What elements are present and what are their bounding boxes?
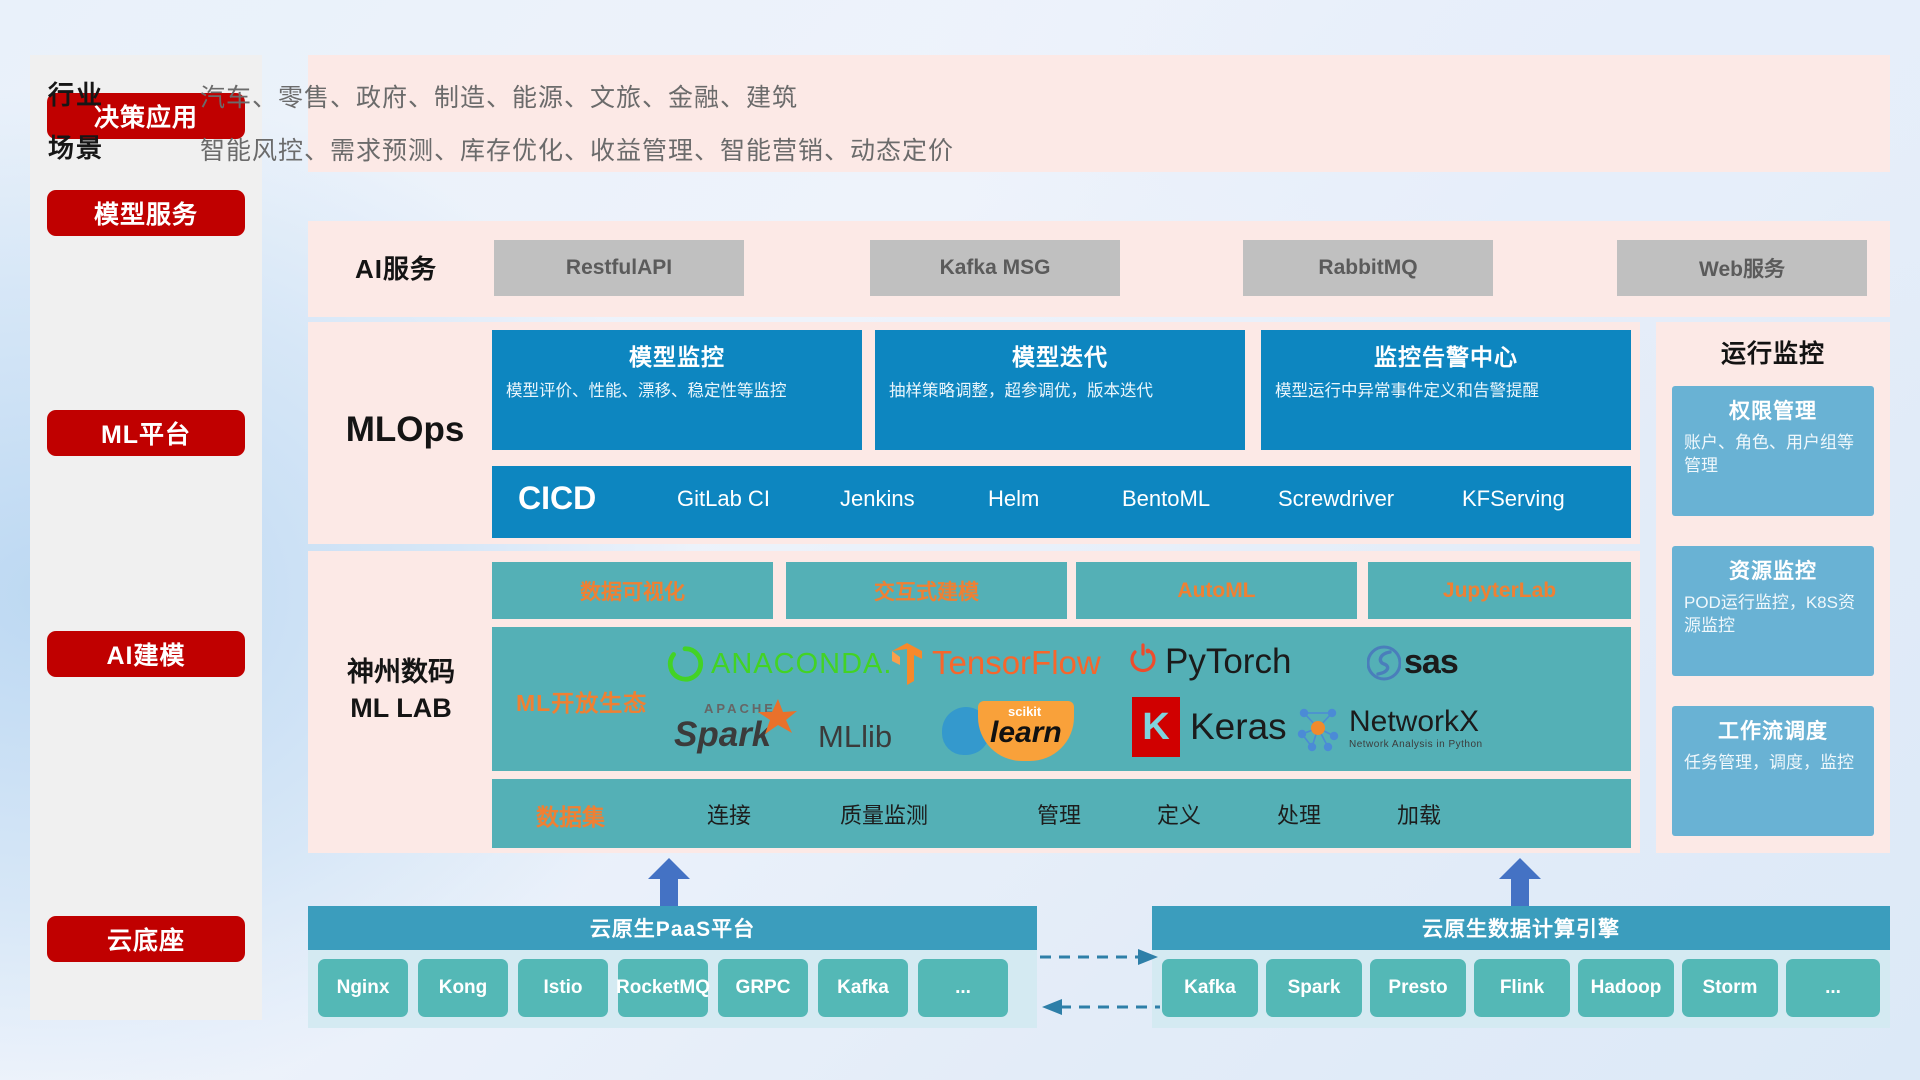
left-stack-rail: 决策应用 模型服务 ML平台 AI建模 云底座 [30,55,262,1020]
monitor-card-workflow-scheduling[interactable]: 工作流调度 任务管理，调度，监控 [1672,706,1874,836]
cicd-tool-jenkins[interactable]: Jenkins [840,486,960,512]
paas-chip-nginx[interactable]: Nginx [318,959,408,1017]
paas-chip-more[interactable]: ... [918,959,1008,1017]
ai-service-chip-web-service[interactable]: Web服务 [1617,240,1867,296]
tensorflow-logo: TensorFlow [887,641,1101,685]
data-engine-chip-flink[interactable]: Flink [1474,959,1570,1017]
spark-star-icon [754,697,800,741]
mlops-label: MLOps [330,400,480,460]
networkx-mark-icon [1292,701,1344,755]
card-body: 模型运行中异常事件定义和告警提醒 [1275,380,1617,403]
keras-wordmark: Keras [1190,706,1287,748]
rail-item-model-service[interactable]: 模型服务 [47,190,245,236]
dataset-op-connect[interactable]: 连接 [707,798,751,830]
ml-lab-label-line2: ML LAB [347,690,455,726]
ai-service-chip-kafka-msg[interactable]: Kafka MSG [870,240,1120,296]
mlops-card-model-iteration[interactable]: 模型迭代 抽样策略调整，超参调优，版本迭代 [875,330,1245,450]
paas-to-engine-arrow-icon [1040,945,1160,969]
card-body: 任务管理，调度，监控 [1684,751,1862,774]
cicd-tool-kfserving[interactable]: KFServing [1462,486,1582,512]
scenario-label: 场景 [48,128,104,165]
mllab-tab-jupyterlab[interactable]: JupyterLab [1368,562,1631,619]
rail-item-cloud-base[interactable]: 云底座 [47,916,245,962]
card-title: 模型监控 [506,338,848,372]
scikit-learn-logo: scikit learn [942,701,1112,761]
cicd-tool-gitlab-ci[interactable]: GitLab CI [677,486,797,512]
keras-logo: K Keras [1132,697,1287,757]
networkx-wordmark: NetworkX [1349,707,1483,737]
card-body: 抽样策略调整，超参调优，版本迭代 [889,380,1231,403]
sas-mark-icon [1367,644,1401,682]
dataset-op-process[interactable]: 处理 [1277,798,1321,830]
data-engine-group: 云原生数据计算引擎 Kafka Spark Presto Flink Hadoo… [1152,906,1890,1028]
rail-item-ai-modeling[interactable]: AI建模 [47,631,245,677]
data-engine-title: 云原生数据计算引擎 [1152,906,1890,950]
networkx-logo: NetworkX Network Analysis in Python [1292,701,1483,755]
networkx-tagline: Network Analysis in Python [1349,740,1483,750]
sas-logo: sas [1367,643,1458,682]
ml-lab-label-line1: 神州数码 [347,654,455,690]
card-body: 账户、角色、用户组等管理 [1684,431,1862,477]
card-title: 监控告警中心 [1275,338,1617,372]
data-engine-chip-storm[interactable]: Storm [1682,959,1778,1017]
paas-chip-rocketmq[interactable]: RocketMQ [618,959,708,1017]
learn-text: learn [990,716,1062,750]
monitor-card-resource-monitoring[interactable]: 资源监控 POD运行监控，K8S资源监控 [1672,546,1874,676]
pytorch-mark-icon [1127,642,1159,682]
dataset-op-define[interactable]: 定义 [1157,798,1201,830]
paas-title: 云原生PaaS平台 [308,906,1037,950]
data-engine-chip-hadoop[interactable]: Hadoop [1578,959,1674,1017]
dataset-op-quality-monitor[interactable]: 质量监测 [840,798,928,830]
card-title: 资源监控 [1684,555,1862,585]
cicd-label: CICD [518,480,596,517]
keras-mark-icon: K [1132,697,1180,757]
ml-open-ecosystem-band: ML开放生态 ANACONDA. TensorFlow PyTorch s [492,627,1631,771]
paas-chip-kafka[interactable]: Kafka [818,959,908,1017]
sas-wordmark: sas [1404,643,1458,682]
keras-k-letter: K [1142,706,1169,749]
data-engine-up-arrow-icon [1497,858,1543,906]
ml-lab-label: 神州数码 ML LAB [316,650,486,730]
data-engine-chip-kafka[interactable]: Kafka [1162,959,1258,1017]
dataset-op-load[interactable]: 加载 [1397,798,1441,830]
tensorflow-mark-icon [887,641,927,685]
engine-to-paas-arrow-icon [1040,995,1160,1019]
card-title: 权限管理 [1684,395,1862,425]
ai-service-label: AI服务 [336,250,456,290]
paas-chip-istio[interactable]: Istio [518,959,608,1017]
paas-chip-kong[interactable]: Kong [418,959,508,1017]
dataset-op-manage[interactable]: 管理 [1037,798,1081,830]
data-engine-chip-tray: Kafka Spark Presto Flink Hadoop Storm ..… [1152,950,1890,1028]
pytorch-wordmark: PyTorch [1165,642,1291,682]
cicd-tool-bentoml[interactable]: BentoML [1122,486,1242,512]
cicd-toolchain-bar: CICD GitLab CI Jenkins Helm BentoML Scre… [492,466,1631,538]
pytorch-logo: PyTorch [1127,642,1291,682]
data-engine-chip-spark[interactable]: Spark [1266,959,1362,1017]
card-body: POD运行监控，K8S资源监控 [1684,591,1862,637]
rail-item-ml-platform[interactable]: ML平台 [47,410,245,456]
ml-open-ecosystem-label: ML开放生态 [516,684,647,718]
mlops-card-model-monitoring[interactable]: 模型监控 模型评价、性能、漂移、稳定性等监控 [492,330,862,450]
paas-up-arrow-icon [646,858,692,906]
card-title: 工作流调度 [1684,715,1862,745]
scenario-values: 智能风控、需求预测、库存优化、收益管理、智能营销、动态定价 [200,131,954,167]
industry-values: 汽车、零售、政府、制造、能源、文旅、金融、建筑 [200,78,798,114]
tensorflow-wordmark: TensorFlow [932,644,1101,682]
anaconda-logo: ANACONDA. [666,645,892,683]
dataset-label: 数据集 [536,798,605,832]
mllab-tab-interactive-modeling[interactable]: 交互式建模 [786,562,1067,619]
ai-service-chip-rabbitmq[interactable]: RabbitMQ [1243,240,1493,296]
industry-label: 行业 [48,75,104,112]
mllab-tab-automl[interactable]: AutoML [1076,562,1357,619]
data-engine-chip-presto[interactable]: Presto [1370,959,1466,1017]
ai-service-chip-restfulapi[interactable]: RestfulAPI [494,240,744,296]
card-body: 模型评价、性能、漂移、稳定性等监控 [506,380,848,403]
cicd-tool-helm[interactable]: Helm [988,486,1108,512]
monitor-card-permission-management[interactable]: 权限管理 账户、角色、用户组等管理 [1672,386,1874,516]
mllab-tab-data-visualization[interactable]: 数据可视化 [492,562,773,619]
runtime-monitor-title: 运行监控 [1656,326,1890,378]
paas-group: 云原生PaaS平台 Nginx Kong Istio RocketMQ GRPC… [308,906,1037,1028]
spark-mllib-logo: APACHE Spark MLlib [674,703,892,759]
card-title: 模型迭代 [889,338,1231,372]
mllib-wordmark: MLlib [818,719,892,755]
paas-chip-grpc[interactable]: GRPC [718,959,808,1017]
paas-chip-tray: Nginx Kong Istio RocketMQ GRPC Kafka ... [308,950,1037,1028]
cicd-tool-screwdriver[interactable]: Screwdriver [1278,486,1398,512]
mlops-card-alert-center[interactable]: 监控告警中心 模型运行中异常事件定义和告警提醒 [1261,330,1631,450]
dataset-band: 数据集 连接 质量监测 管理 定义 处理 加载 [492,779,1631,848]
data-engine-chip-more[interactable]: ... [1786,959,1880,1017]
anaconda-mark-icon [666,645,704,683]
anaconda-wordmark: ANACONDA. [711,648,892,681]
